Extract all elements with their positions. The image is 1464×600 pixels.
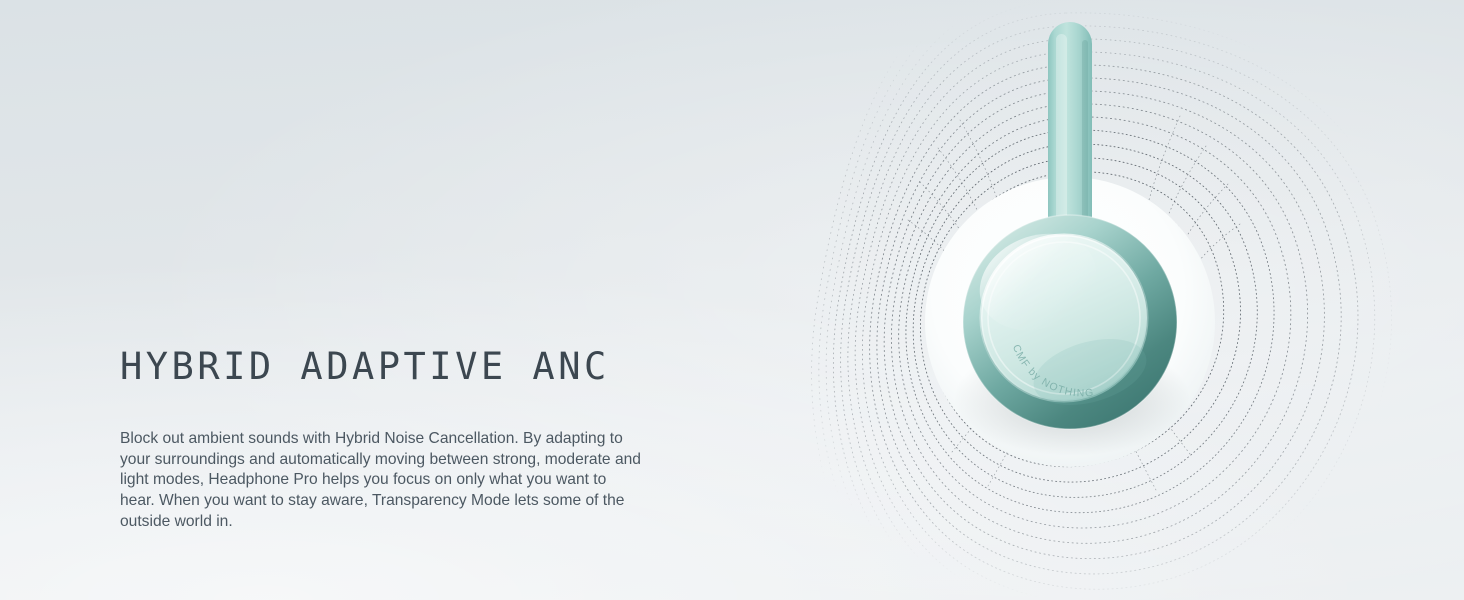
body-description: Block out ambient sounds with Hybrid Noi… — [120, 385, 645, 533]
page-title: HYBRID ADAPTIVE ANC — [120, 348, 680, 385]
headband — [1048, 22, 1092, 240]
product-scene: CMF by NOTHING — [760, 0, 1400, 600]
copy-block: HYBRID ADAPTIVE ANC Block out ambient so… — [120, 348, 680, 533]
anc-feature-banner: HYBRID ADAPTIVE ANC Block out ambient so… — [0, 0, 1464, 600]
headphone-product-image: CMF by NOTHING — [760, 0, 1400, 600]
